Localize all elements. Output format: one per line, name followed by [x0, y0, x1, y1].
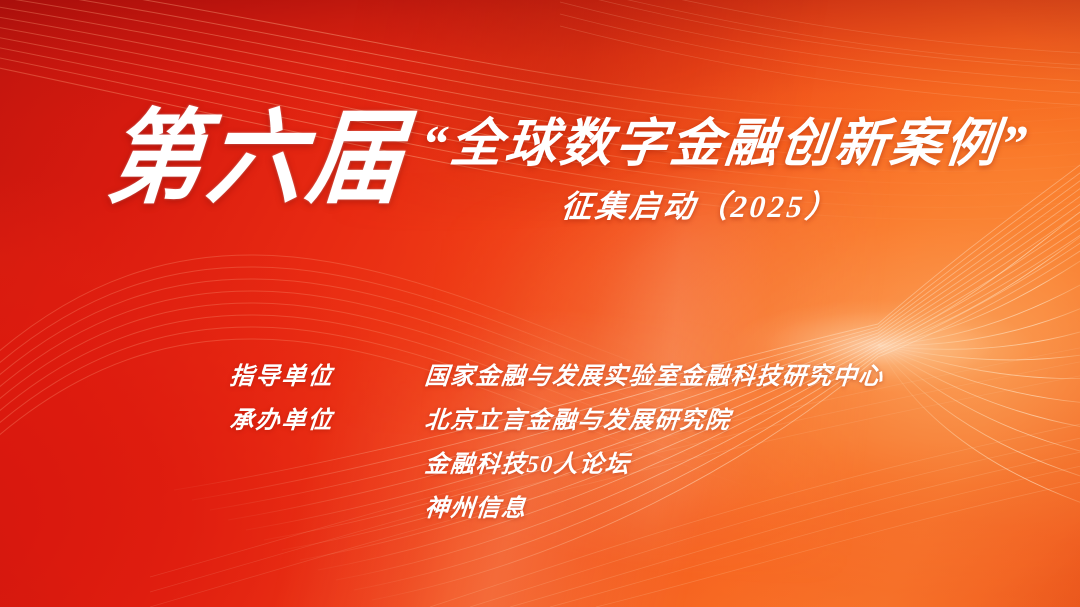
organization-label: 承办单位 — [228, 400, 426, 435]
subtitle: 征集启动（2025） — [559, 190, 841, 224]
organization-value: 神州信息 — [423, 488, 528, 523]
event-poster: 第六届 “全球数字金融创新案例” 征集启动（2025） 指导单位 国家金融与发展… — [0, 0, 1080, 607]
organization-row: 金融科技50人论坛 — [230, 444, 884, 488]
organization-row: 指导单位 国家金融与发展实验室金融科技研究中心 — [230, 356, 884, 400]
organization-value: 国家金融与发展实验室金融科技研究中心 — [423, 356, 885, 391]
poster-content: 第六届 “全球数字金融创新案例” 征集启动（2025） 指导单位 国家金融与发展… — [0, 0, 1080, 607]
organization-value: 金融科技50人论坛 — [423, 444, 632, 479]
quoted-title: “全球数字金融创新案例” — [418, 118, 1032, 173]
main-title: 第六届 — [103, 108, 412, 211]
organization-block: 指导单位 国家金融与发展实验室金融科技研究中心 承办单位 北京立言金融与发展研究… — [230, 356, 884, 532]
organization-value: 北京立言金融与发展研究院 — [423, 400, 732, 435]
organization-label: 指导单位 — [228, 356, 426, 391]
organization-row: 承办单位 北京立言金融与发展研究院 — [230, 400, 884, 444]
organization-row: 神州信息 — [230, 488, 884, 532]
